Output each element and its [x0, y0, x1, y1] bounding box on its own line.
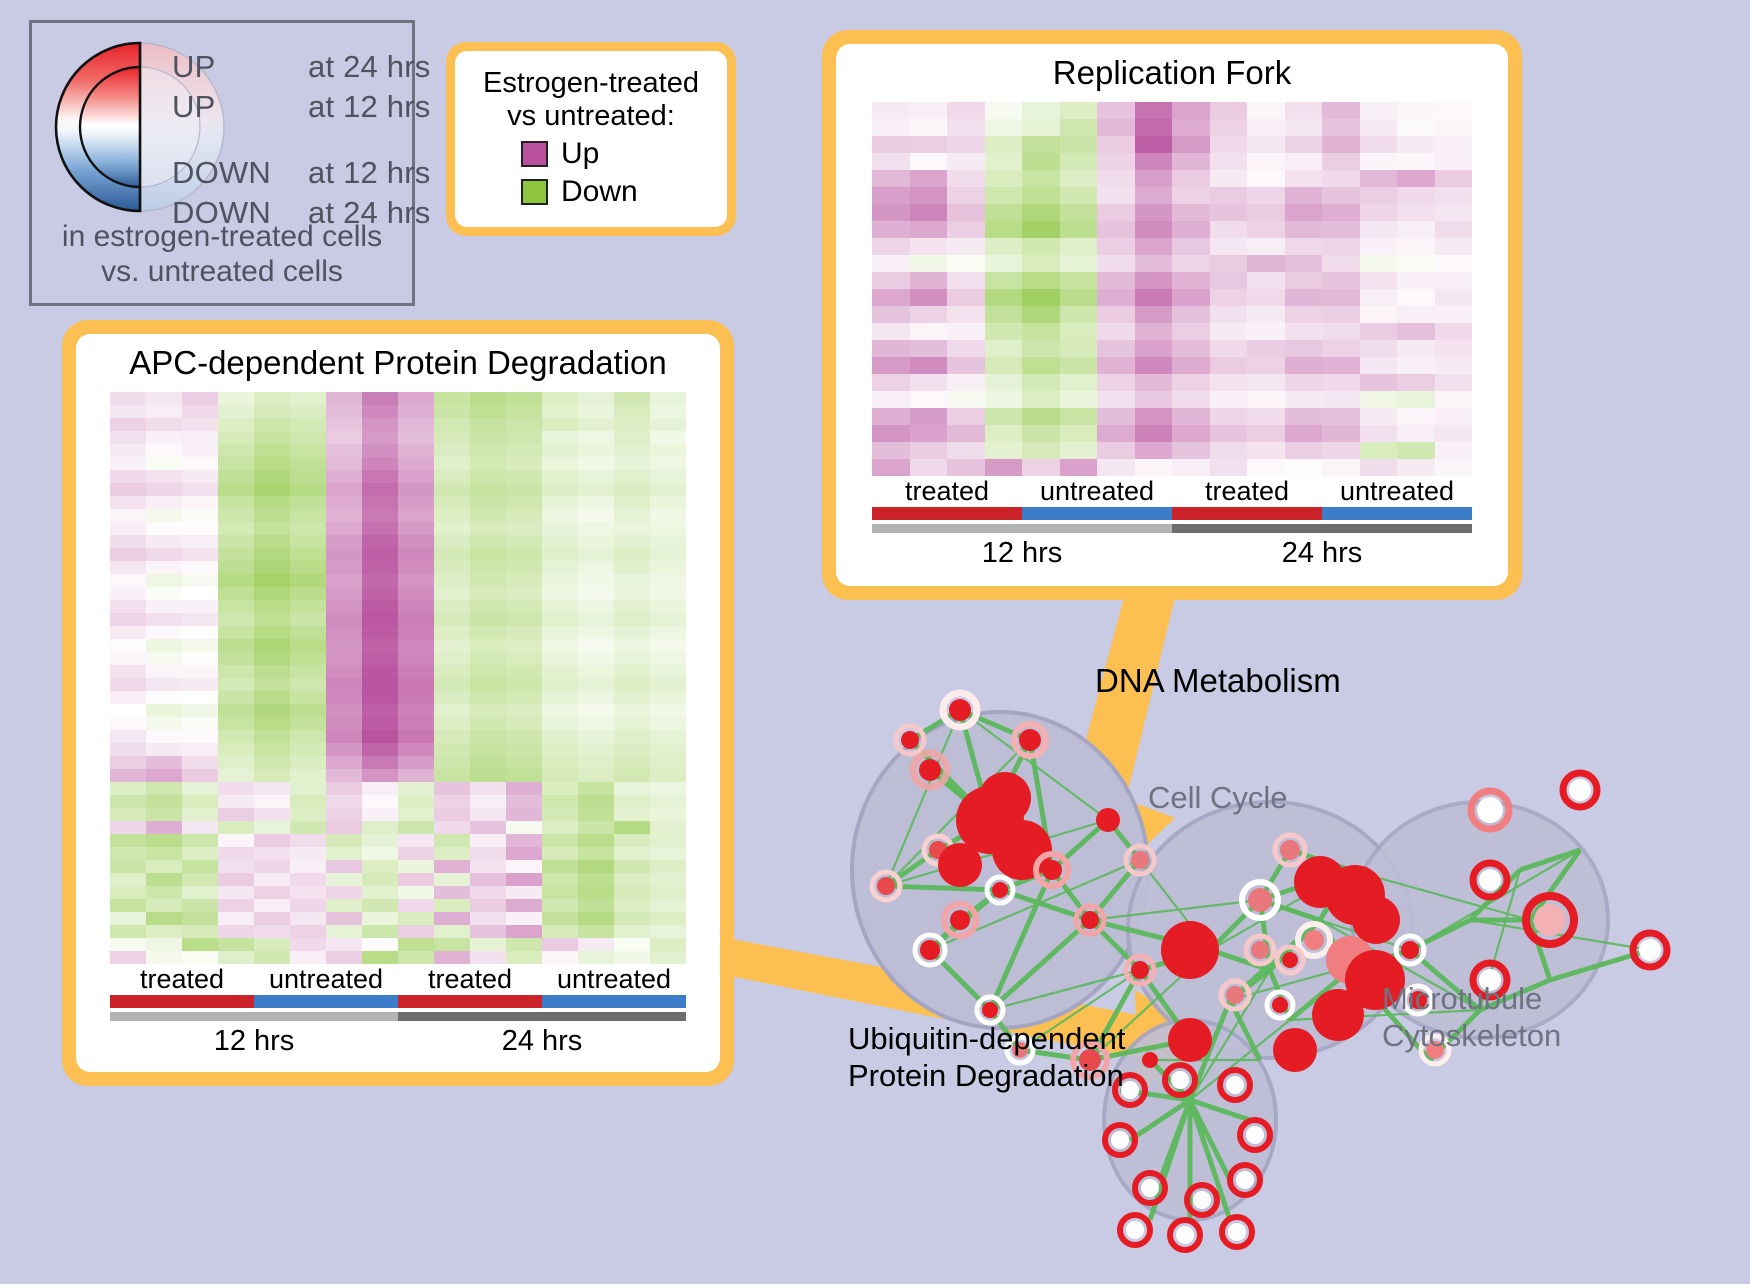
- legend-caption: in estrogen-treated cells vs. untreated …: [32, 219, 412, 289]
- condition-labels-replication: treateduntreatedtreateduntreated: [872, 476, 1472, 507]
- heatmap-cell: [434, 418, 470, 431]
- heatmap-cell: [542, 691, 578, 704]
- heatmap-cell: [470, 392, 506, 405]
- heatmap-cell: [542, 782, 578, 795]
- heatmap-cell: [1247, 459, 1285, 476]
- heatmap-cell: [254, 782, 290, 795]
- heatmap-cell: [398, 652, 434, 665]
- heatmap-cell: [434, 405, 470, 418]
- heatmap-cell: [326, 639, 362, 652]
- heatmap-cell: [542, 561, 578, 574]
- legend-row-up-24: UP at 24 hrs: [172, 49, 430, 85]
- heatmap-cell: [985, 289, 1023, 306]
- heatmap-cell: [146, 912, 182, 925]
- heatmap-cell: [254, 509, 290, 522]
- heatmap-cell: [1247, 408, 1285, 425]
- heatmap-cell: [650, 782, 686, 795]
- heatmap-cell: [872, 408, 910, 425]
- heatmap-cell: [326, 600, 362, 613]
- heatmap-cell: [470, 574, 506, 587]
- heatmap-cell: [650, 938, 686, 951]
- heatmap-cell: [1022, 306, 1060, 323]
- heatmap-cell: [110, 886, 146, 899]
- heatmap-cell: [182, 925, 218, 938]
- heatmap-cell: [470, 470, 506, 483]
- heatmap-cell: [290, 743, 326, 756]
- heatmap-cell: [290, 665, 326, 678]
- heatmap-cell: [1247, 119, 1285, 136]
- heatmap-cell: [146, 600, 182, 613]
- cluster-label-ubiquitin-degradation: Ubiquitin-dependent Protein Degradation: [848, 1020, 1126, 1094]
- heatmap-cell: [1322, 102, 1360, 119]
- cluster-label-dna-metabolism: DNA Metabolism: [1095, 662, 1341, 700]
- heatmap-cell: [218, 444, 254, 457]
- heatmap-cell: [1360, 170, 1398, 187]
- heatmap-cell: [362, 704, 398, 717]
- heatmap-cell: [1172, 187, 1210, 204]
- heatmap-cell: [1360, 391, 1398, 408]
- heatmap-cell: [254, 808, 290, 821]
- heatmap-cell: [1210, 374, 1248, 391]
- pathway-network-graph: DNA Metabolism Cell Cycle Microtubule Cy…: [790, 620, 1740, 1279]
- heatmap-cell: [1022, 340, 1060, 357]
- heatmap-cell: [578, 704, 614, 717]
- heatmap-cell: [506, 808, 542, 821]
- heatmap-cell: [614, 509, 650, 522]
- heatmap-cell: [650, 860, 686, 873]
- condition-bar: [542, 995, 686, 1008]
- heatmap-cell: [614, 483, 650, 496]
- heatmap-cell: [218, 912, 254, 925]
- heatmap-cell: [146, 418, 182, 431]
- heatmap-cell: [110, 847, 146, 860]
- heatmap-cell: [218, 548, 254, 561]
- heatmap-cell: [578, 548, 614, 561]
- heatmap-cell: [218, 925, 254, 938]
- time-bar: [872, 524, 1172, 533]
- heatmap-cell: [1397, 187, 1435, 204]
- heatmap-cell: [578, 691, 614, 704]
- heatmap-cell: [985, 238, 1023, 255]
- time-bars-replication: [872, 524, 1472, 533]
- heatmap-cell: [362, 561, 398, 574]
- heatmap-cell: [1397, 255, 1435, 272]
- heatmap-cell: [650, 405, 686, 418]
- heatmap-cell: [398, 418, 434, 431]
- heatmap-cell: [872, 391, 910, 408]
- heatmap-cell: [1135, 272, 1173, 289]
- heatmap-cell: [985, 391, 1023, 408]
- heatmap-cell: [326, 561, 362, 574]
- heatmap-cell: [398, 704, 434, 717]
- heatmap-cell: [254, 821, 290, 834]
- heatmap-replication-fork: [872, 102, 1472, 476]
- heatmap-cell: [1285, 374, 1323, 391]
- heatmap-cell: [434, 821, 470, 834]
- heatmap-cell: [326, 392, 362, 405]
- heatmap-cell: [290, 470, 326, 483]
- heatmap-cell: [506, 522, 542, 535]
- heatmap-cell: [110, 587, 146, 600]
- heatmap-cell: [910, 255, 948, 272]
- heatmap-cell: [1022, 391, 1060, 408]
- heatmap-cell: [146, 613, 182, 626]
- heatmap-cell: [1435, 204, 1473, 221]
- heatmap-cell: [254, 847, 290, 860]
- heatmap-cell: [1210, 187, 1248, 204]
- heatmap-cell: [947, 442, 985, 459]
- heatmap-cell: [910, 323, 948, 340]
- heatmap-cell: [362, 600, 398, 613]
- heatmap-cell: [110, 665, 146, 678]
- heatmap-cell: [614, 405, 650, 418]
- heatmap-cell: [947, 408, 985, 425]
- heatmap-cell: [182, 860, 218, 873]
- heatmap-cell: [290, 418, 326, 431]
- heatmap-cell: [182, 444, 218, 457]
- heatmap-cell: [290, 457, 326, 470]
- heatmap-cell: [1060, 119, 1098, 136]
- heatmap-cell: [470, 743, 506, 756]
- heatmap-cell: [110, 561, 146, 574]
- heatmap-cell: [614, 769, 650, 782]
- heatmap-cell: [1210, 204, 1248, 221]
- heatmap-cell: [362, 626, 398, 639]
- cluster-label-cell-cycle: Cell Cycle: [1148, 780, 1288, 816]
- heatmap-cell: [542, 613, 578, 626]
- heatmap-cell: [326, 665, 362, 678]
- heatmap-cell: [614, 951, 650, 964]
- heatmap-cell: [578, 899, 614, 912]
- up-swatch-icon: [521, 141, 548, 167]
- heatmap-cell: [1397, 323, 1435, 340]
- heatmap-cell: [1435, 323, 1473, 340]
- heatmap-cell: [470, 405, 506, 418]
- heatmap-cell: [182, 626, 218, 639]
- heatmap-cell: [470, 795, 506, 808]
- heatmap-cell: [470, 678, 506, 691]
- heatmap-cell: [254, 626, 290, 639]
- heatmap-cell: [1285, 306, 1323, 323]
- condition-label: untreated: [254, 964, 398, 995]
- heatmap-cell: [362, 860, 398, 873]
- heatmap-cell: [146, 860, 182, 873]
- heatmap-cell: [362, 899, 398, 912]
- heatmap-cell: [1135, 425, 1173, 442]
- axis-apc: treateduntreatedtreateduntreated 12 hrs2…: [110, 964, 686, 1058]
- heatmap-cell: [1172, 238, 1210, 255]
- heatmap-cell: [326, 860, 362, 873]
- heatmap-cell: [398, 743, 434, 756]
- heatmap-cell: [470, 860, 506, 873]
- heatmap-cell: [1097, 425, 1135, 442]
- heatmap-cell: [110, 535, 146, 548]
- heatmap-cell: [872, 272, 910, 289]
- heatmap-cell: [1360, 136, 1398, 153]
- heatmap-cell: [650, 470, 686, 483]
- heatmap-cell: [506, 782, 542, 795]
- heatmap-cell: [1022, 374, 1060, 391]
- heatmap-cell: [218, 665, 254, 678]
- heatmap-cell: [614, 717, 650, 730]
- heatmap-cell: [254, 925, 290, 938]
- heatmap-cell: [398, 860, 434, 873]
- heatmap-cell: [1060, 391, 1098, 408]
- heatmap-cell: [1135, 391, 1173, 408]
- heatmap-cell: [1360, 187, 1398, 204]
- key-title: Estrogen-treated vs untreated:: [467, 67, 715, 133]
- heatmap-cell: [470, 587, 506, 600]
- heatmap-cell: [542, 418, 578, 431]
- heatmap-cell: [290, 587, 326, 600]
- heatmap-cell: [947, 136, 985, 153]
- heatmap-cell: [1435, 408, 1473, 425]
- heatmap-cell: [578, 457, 614, 470]
- heatmap-cell: [542, 743, 578, 756]
- heatmap-cell: [254, 938, 290, 951]
- heatmap-cell: [947, 323, 985, 340]
- heatmap-cell: [1397, 289, 1435, 306]
- heatmap-cell: [146, 756, 182, 769]
- heatmap-cell: [146, 691, 182, 704]
- heatmap-cell: [1097, 153, 1135, 170]
- panel-apc-degradation: APC-dependent Protein Degradation treate…: [62, 320, 734, 1086]
- heatmap-cell: [1210, 136, 1248, 153]
- heatmap-cell: [110, 795, 146, 808]
- heatmap-cell: [1285, 102, 1323, 119]
- condition-bar: [398, 995, 542, 1008]
- heatmap-cell: [1435, 119, 1473, 136]
- heatmap-cell: [614, 873, 650, 886]
- legend-caption-line2: vs. untreated cells: [32, 254, 412, 289]
- heatmap-cell: [362, 496, 398, 509]
- heatmap-cell: [614, 431, 650, 444]
- heatmap-cell: [1097, 391, 1135, 408]
- legend-time: at 24 hrs: [308, 49, 430, 85]
- legend-direction: UP: [172, 89, 308, 125]
- panel-replication-fork: Replication Fork treateduntreatedtreated…: [822, 30, 1522, 600]
- heatmap-cell: [1135, 357, 1173, 374]
- heatmap-cell: [182, 613, 218, 626]
- heatmap-cell: [110, 834, 146, 847]
- heatmap-cell: [1397, 238, 1435, 255]
- heatmap-cell: [910, 459, 948, 476]
- heatmap-cell: [985, 323, 1023, 340]
- heatmap-cell: [290, 873, 326, 886]
- heatmap-cell: [1022, 272, 1060, 289]
- heatmap-cell: [110, 925, 146, 938]
- heatmap-cell: [1322, 187, 1360, 204]
- heatmap-cell: [1322, 153, 1360, 170]
- heatmap-cell: [434, 444, 470, 457]
- heatmap-cell: [290, 847, 326, 860]
- heatmap-cell: [650, 652, 686, 665]
- heatmap-cell: [506, 561, 542, 574]
- heatmap-cell: [1360, 221, 1398, 238]
- heatmap-cell: [218, 769, 254, 782]
- heatmap-cell: [1397, 442, 1435, 459]
- heatmap-cell: [1435, 170, 1473, 187]
- heatmap-cell: [470, 665, 506, 678]
- heatmap-cell: [290, 613, 326, 626]
- heatmap-cell: [254, 431, 290, 444]
- heatmap-cell: [1322, 357, 1360, 374]
- heatmap-cell: [110, 483, 146, 496]
- heatmap-cell: [542, 431, 578, 444]
- heatmap-cell: [146, 470, 182, 483]
- key-label-down: Down: [561, 175, 638, 209]
- heatmap-cell: [362, 665, 398, 678]
- heatmap-cell: [1135, 340, 1173, 357]
- heatmap-cell: [290, 444, 326, 457]
- key-title-line2: vs untreated:: [467, 100, 715, 133]
- heatmap-cell: [434, 847, 470, 860]
- heatmap-cell: [614, 613, 650, 626]
- heatmap-cell: [146, 730, 182, 743]
- heatmap-cell: [578, 483, 614, 496]
- heatmap-cell: [1172, 374, 1210, 391]
- heatmap-cell: [218, 483, 254, 496]
- heatmap-cell: [218, 405, 254, 418]
- heatmap-cell: [650, 626, 686, 639]
- key-item-up: Up: [521, 137, 715, 171]
- heatmap-cell: [182, 431, 218, 444]
- heatmap-cell: [398, 613, 434, 626]
- heatmap-cell: [542, 834, 578, 847]
- heatmap-cell: [578, 795, 614, 808]
- heatmap-cell: [110, 899, 146, 912]
- heatmap-cell: [254, 665, 290, 678]
- heatmap-cell: [398, 457, 434, 470]
- heatmap-cell: [650, 457, 686, 470]
- heatmap-cell: [110, 639, 146, 652]
- heatmap-cell: [872, 323, 910, 340]
- heatmap-cell: [542, 886, 578, 899]
- heatmap-cell: [362, 808, 398, 821]
- heatmap-cell: [650, 431, 686, 444]
- heatmap-cell: [434, 574, 470, 587]
- heatmap-cell: [434, 834, 470, 847]
- heatmap-cell: [398, 665, 434, 678]
- heatmap-cell: [1060, 204, 1098, 221]
- heatmap-cell: [947, 187, 985, 204]
- heatmap-cell: [1060, 102, 1098, 119]
- heatmap-cell: [910, 425, 948, 442]
- heatmap-cell: [218, 431, 254, 444]
- heatmap-cell: [1022, 170, 1060, 187]
- heatmap-cell: [872, 153, 910, 170]
- heatmap-cell: [1097, 357, 1135, 374]
- heatmap-cell: [650, 639, 686, 652]
- heatmap-cell: [1135, 170, 1173, 187]
- heatmap-cell: [470, 821, 506, 834]
- heatmap-cell: [1322, 272, 1360, 289]
- heatmap-cell: [290, 717, 326, 730]
- heatmap-cell: [650, 548, 686, 561]
- heatmap-cell: [362, 548, 398, 561]
- heatmap-cell: [218, 535, 254, 548]
- heatmap-cell: [146, 626, 182, 639]
- heatmap-cell: [985, 153, 1023, 170]
- heatmap-cell: [1172, 119, 1210, 136]
- heatmap-cell: [146, 652, 182, 665]
- heatmap-cell: [326, 795, 362, 808]
- heatmap-cell: [1322, 306, 1360, 323]
- heatmap-cell: [182, 392, 218, 405]
- ubiquitin-line2: Protein Degradation: [848, 1057, 1126, 1094]
- heatmap-cell: [362, 782, 398, 795]
- heatmap-cell: [218, 691, 254, 704]
- heatmap-cell: [326, 405, 362, 418]
- heatmap-cell: [1135, 374, 1173, 391]
- heatmap-cell: [1097, 204, 1135, 221]
- heatmap-cell: [614, 912, 650, 925]
- heatmap-cell: [614, 704, 650, 717]
- heatmap-cell: [254, 470, 290, 483]
- heatmap-cell: [1172, 425, 1210, 442]
- heatmap-cell: [1435, 272, 1473, 289]
- heatmap-cell: [254, 691, 290, 704]
- heatmap-cell: [1097, 272, 1135, 289]
- heatmap-cell: [398, 834, 434, 847]
- heatmap-cell: [1172, 306, 1210, 323]
- heatmap-cell: [326, 886, 362, 899]
- time-label: 12 hrs: [110, 1021, 398, 1058]
- heatmap-cell: [1285, 255, 1323, 272]
- heatmap-cell: [434, 873, 470, 886]
- heatmap-cell: [434, 613, 470, 626]
- heatmap-cell: [218, 626, 254, 639]
- heatmap-cell: [290, 769, 326, 782]
- heatmap-cell: [506, 834, 542, 847]
- heatmap-cell: [910, 408, 948, 425]
- heatmap-cell: [146, 938, 182, 951]
- heatmap-cell: [1135, 187, 1173, 204]
- heatmap-cell: [398, 730, 434, 743]
- heatmap-cell: [985, 306, 1023, 323]
- heatmap-cell: [872, 289, 910, 306]
- heatmap-cell: [1397, 374, 1435, 391]
- heatmap-cell: [434, 704, 470, 717]
- condition-label: treated: [398, 964, 542, 995]
- heatmap-cell: [182, 470, 218, 483]
- heatmap-cell: [1172, 170, 1210, 187]
- heatmap-cell: [254, 951, 290, 964]
- heatmap-cell: [434, 561, 470, 574]
- heatmap-cell: [1435, 238, 1473, 255]
- heatmap-cell: [872, 340, 910, 357]
- heatmap-cell: [110, 860, 146, 873]
- heatmap-cell: [218, 509, 254, 522]
- heatmap-cell: [1172, 459, 1210, 476]
- heatmap-cell: [1285, 204, 1323, 221]
- heatmap-cell: [254, 795, 290, 808]
- heatmap-cell: [1322, 255, 1360, 272]
- heatmap-cell: [542, 587, 578, 600]
- heatmap-cell: [910, 238, 948, 255]
- heatmap-cell: [470, 613, 506, 626]
- heatmap-cell: [542, 860, 578, 873]
- heatmap-cell: [1060, 374, 1098, 391]
- heatmap-cell: [1247, 170, 1285, 187]
- heatmap-cell: [1172, 221, 1210, 238]
- heatmap-cell: [110, 509, 146, 522]
- heatmap-cell: [1360, 238, 1398, 255]
- heatmap-cell: [650, 808, 686, 821]
- heatmap-cell: [146, 548, 182, 561]
- heatmap-cell: [290, 704, 326, 717]
- heatmap-cell: [326, 847, 362, 860]
